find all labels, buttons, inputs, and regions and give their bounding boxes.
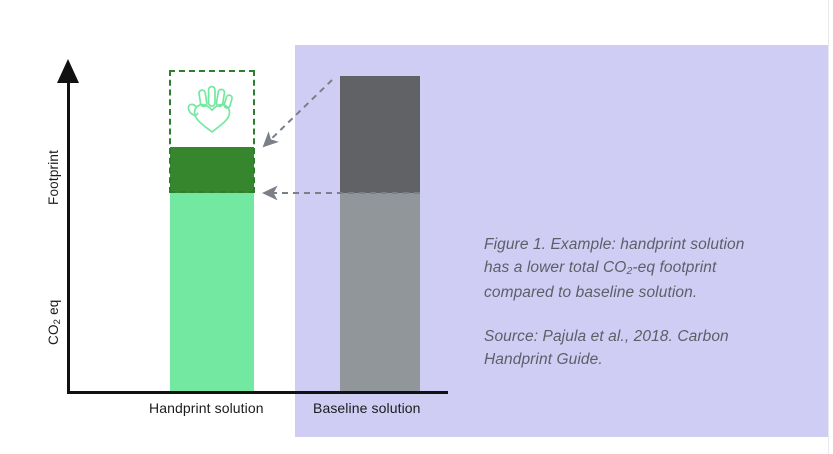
- bar-handprint-lower-segment: [170, 193, 254, 391]
- bar-baseline-lower-segment: [340, 193, 420, 391]
- y-axis-label-footprint: Footprint: [46, 150, 61, 205]
- x-axis-line: [67, 391, 448, 394]
- caption-body: Figure 1. Example: handprint solution ha…: [484, 233, 774, 304]
- caption-co2-subscript: 2: [626, 265, 632, 277]
- y-axis-line: [67, 78, 70, 393]
- right-edge-rule: [828, 0, 829, 454]
- y-axis-label-co2-tail: eq: [46, 299, 61, 318]
- y-axis-label-co2eq: CO2 eq: [46, 299, 61, 345]
- figure-caption: Figure 1. Example: handprint solution ha…: [484, 233, 774, 371]
- y-axis-arrow-icon: [57, 59, 79, 83]
- y-axis-label-co2-main: CO: [46, 324, 61, 345]
- handprint-heart-icon: [181, 80, 243, 142]
- x-tick-baseline-solution: Baseline solution: [313, 400, 421, 416]
- bar-baseline-upper-segment: [340, 76, 420, 193]
- x-tick-handprint-solution: Handprint solution: [149, 400, 264, 416]
- figure-canvas: Footprint CO2 eq Handp: [0, 0, 833, 454]
- y-axis-label-co2-subscript: 2: [52, 319, 63, 324]
- caption-source: Source: Pajula et al., 2018. Carbon Hand…: [484, 325, 774, 371]
